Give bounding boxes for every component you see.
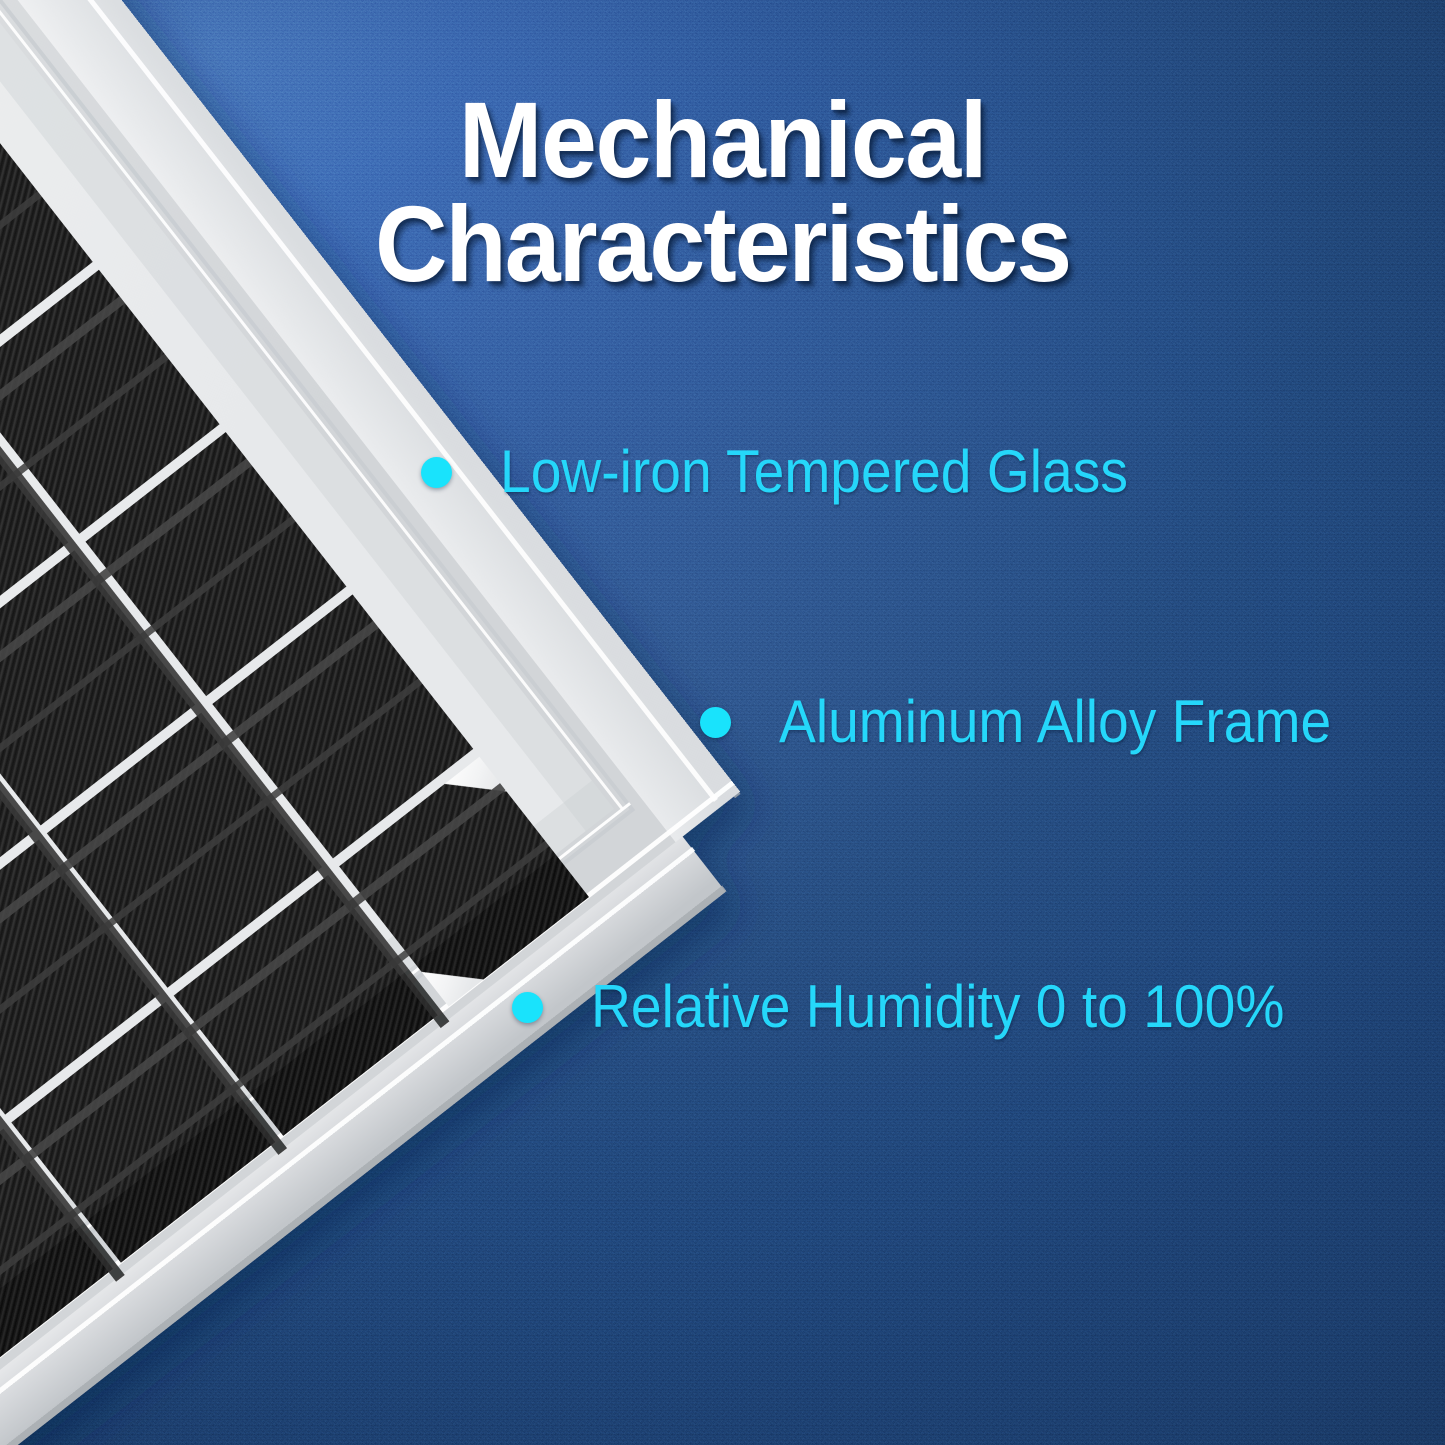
bullet-dot-icon — [512, 992, 543, 1023]
feature-item-1: Aluminum Alloy Frame — [700, 690, 1379, 754]
bullet-dot-icon — [421, 457, 452, 488]
feature-label-1: Aluminum Alloy Frame — [779, 690, 1331, 754]
feature-item-2: Relative Humidity 0 to 100% — [512, 975, 1345, 1039]
feature-item-0: Low-iron Tempered Glass — [421, 440, 1183, 504]
feature-label-2: Relative Humidity 0 to 100% — [591, 975, 1284, 1039]
feature-label-0: Low-iron Tempered Glass — [500, 440, 1128, 504]
bullet-dot-icon — [700, 707, 731, 738]
